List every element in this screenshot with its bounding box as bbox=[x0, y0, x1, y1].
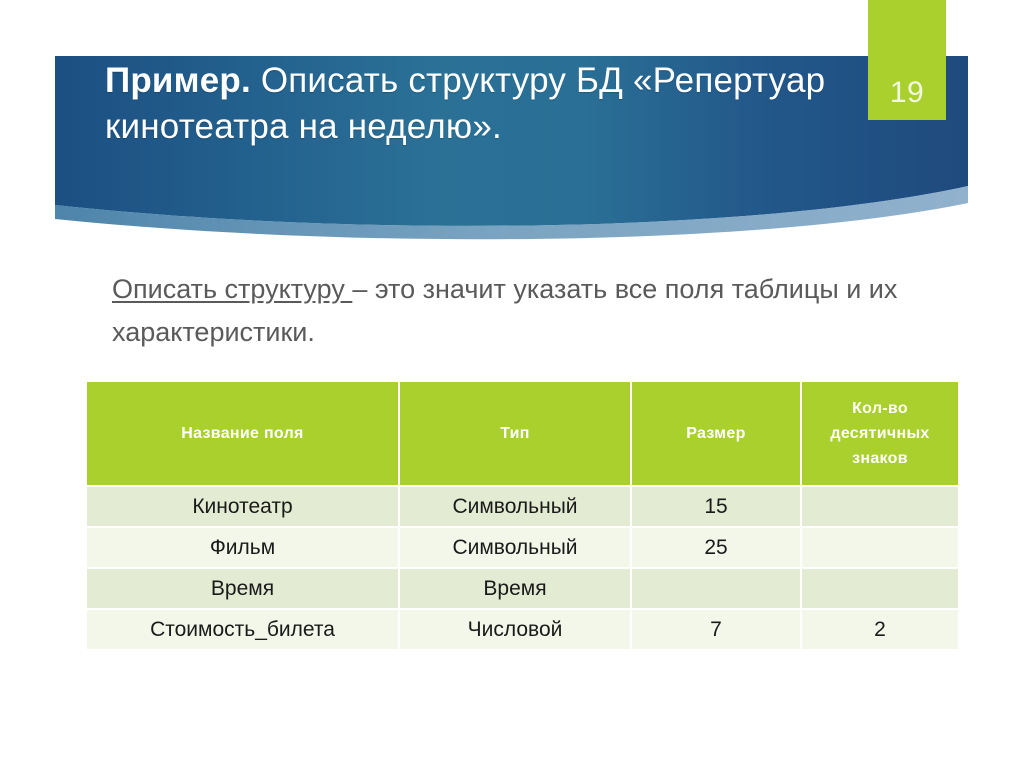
cell-size: 15 bbox=[632, 485, 802, 526]
cell-decimals bbox=[802, 485, 958, 526]
cell-type: Символьный bbox=[400, 485, 632, 526]
cell-decimals bbox=[802, 567, 958, 608]
cell-field: Кинотеатр bbox=[87, 485, 400, 526]
cell-type: Числовой bbox=[400, 608, 632, 649]
table-row: Время Время bbox=[87, 567, 958, 608]
cell-decimals: 2 bbox=[802, 608, 958, 649]
table-header-cell-field: Название поля bbox=[87, 382, 400, 485]
title-banner: 19 Пример. Описать структуру БД «Реперту… bbox=[0, 0, 1024, 250]
cell-size bbox=[632, 567, 802, 608]
body-paragraph-underlined: Описать структуру bbox=[112, 274, 352, 304]
cell-type: Время bbox=[400, 567, 632, 608]
cell-size: 7 bbox=[632, 608, 802, 649]
page-number-badge: 19 bbox=[868, 0, 946, 120]
cell-decimals bbox=[802, 526, 958, 567]
cell-size: 25 bbox=[632, 526, 802, 567]
page-title: Пример. Описать структуру БД «Репертуар … bbox=[105, 58, 885, 150]
field-structure-table: Название поля Тип Размер Кол-во десятичн… bbox=[87, 382, 958, 649]
page-number-text: 19 bbox=[890, 78, 924, 108]
cell-field: Время bbox=[87, 567, 400, 608]
table-header-cell-type: Тип bbox=[400, 382, 632, 485]
cell-field: Стоимость_билета bbox=[87, 608, 400, 649]
table-row: Кинотеатр Символьный 15 bbox=[87, 485, 958, 526]
page-title-strong: Пример. bbox=[105, 61, 251, 100]
cell-type: Символьный bbox=[400, 526, 632, 567]
table-header-cell-size: Размер bbox=[632, 382, 802, 485]
table-header-cell-decimals: Кол-во десятичных знаков bbox=[802, 382, 958, 485]
cell-field: Фильм bbox=[87, 526, 400, 567]
table-header-row: Название поля Тип Размер Кол-во десятичн… bbox=[87, 382, 958, 485]
table-row: Стоимость_билета Числовой 7 2 bbox=[87, 608, 958, 649]
body-paragraph: Описать структуру – это значит указать в… bbox=[112, 268, 952, 354]
table-row: Фильм Символьный 25 bbox=[87, 526, 958, 567]
